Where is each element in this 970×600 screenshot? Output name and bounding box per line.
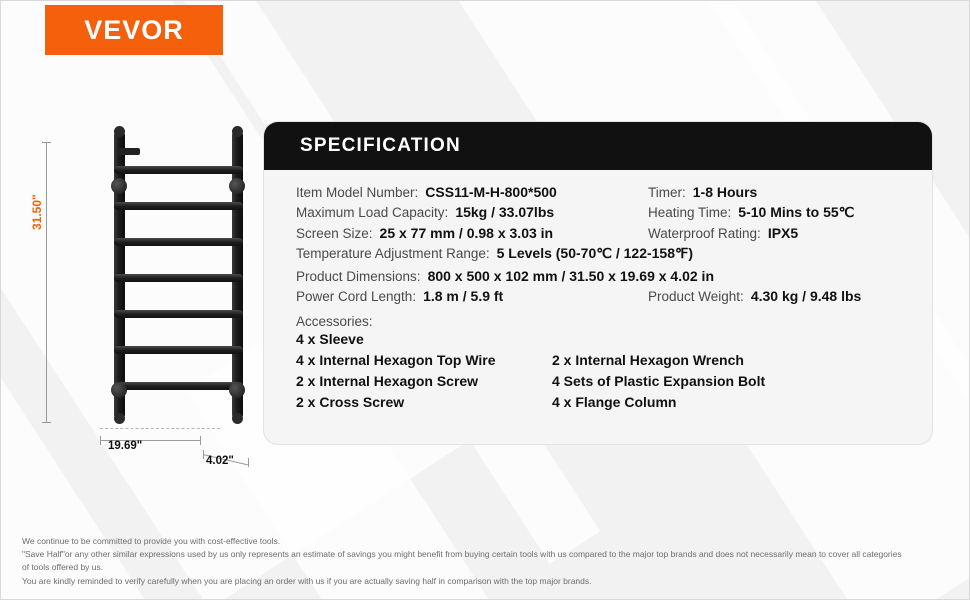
accessory-item: 2 x Internal Hexagon Screw <box>296 373 552 389</box>
spec-row: Product Dimensions: 800 x 500 x 102 mm /… <box>296 268 910 284</box>
timer-value: 1-8 Hours <box>693 184 758 200</box>
screen-size-value: 25 x 77 mm / 0.98 x 3.03 in <box>380 225 554 241</box>
rail-bar <box>114 310 243 318</box>
footer-line-4: You are kindly reminded to verify carefu… <box>22 575 952 587</box>
waterproof-rating-value: IPX5 <box>768 225 798 241</box>
accessory-item: 2 x Cross Screw <box>296 394 552 410</box>
post-cap <box>114 126 125 137</box>
power-cord-length-value: 1.8 m / 5.9 ft <box>423 288 503 304</box>
depth-dimension-tick <box>248 458 249 467</box>
height-dimension-tick <box>42 422 51 423</box>
rail-bar <box>114 202 243 210</box>
temperature-range-label: Temperature Adjustment Range: <box>296 246 490 261</box>
specification-title: SPECIFICATION <box>300 135 461 157</box>
towel-rail-graphic <box>100 130 258 420</box>
wall-mount <box>229 178 245 194</box>
accessories-column-1: 4 x Internal Hexagon Top Wire 2 x Intern… <box>296 352 552 415</box>
width-dimension-tick <box>100 436 101 445</box>
display-screen <box>118 148 140 155</box>
heating-time-value: 5-10 Mins to 55℃ <box>738 204 854 221</box>
height-dimension-label: 31.50" <box>30 194 44 230</box>
temperature-range-value: 5 Levels (50-70℃ / 122-158℉) <box>497 245 693 262</box>
timer-label: Timer: <box>648 185 686 200</box>
specification-card: SPECIFICATION Item Model Number: CSS11-M… <box>264 122 932 444</box>
accessories-grid: 4 x Internal Hexagon Top Wire 2 x Intern… <box>296 352 910 415</box>
accessory-item: 4 Sets of Plastic Expansion Bolt <box>552 373 765 389</box>
accessory-item: 2 x Internal Hexagon Wrench <box>552 352 765 368</box>
model-number-label: Item Model Number: <box>296 185 418 200</box>
height-dimension-tick <box>42 142 51 143</box>
spec-row: Temperature Adjustment Range: 5 Levels (… <box>296 245 910 262</box>
post-cap <box>232 413 243 424</box>
vevor-logo: VEVOR <box>45 5 223 55</box>
max-load-value: 15kg / 33.07lbs <box>455 204 554 220</box>
wall-mount <box>111 382 127 398</box>
specification-header: SPECIFICATION <box>264 122 932 170</box>
accessories-label: Accessories: <box>296 314 910 329</box>
accessory-item: 4 x Internal Hexagon Top Wire <box>296 352 552 368</box>
accessory-item: 4 x Sleeve <box>296 331 910 347</box>
model-number-value: CSS11-M-H-800*500 <box>425 184 557 200</box>
width-dimension-tick <box>200 436 201 445</box>
rail-bar <box>114 274 243 282</box>
spec-row: Screen Size: 25 x 77 mm / 0.98 x 3.03 in… <box>296 225 910 245</box>
footer-line-3: of tools offered by us. <box>22 561 952 573</box>
spec-row: Maximum Load Capacity: 15kg / 33.07lbs H… <box>296 204 910 225</box>
post-cap <box>232 126 243 137</box>
screen-size-label: Screen Size: <box>296 226 373 241</box>
wall-mount <box>111 178 127 194</box>
rail-bar <box>114 382 243 390</box>
accessories-column-2: 2 x Internal Hexagon Wrench 4 Sets of Pl… <box>552 352 765 415</box>
vevor-logo-text: VEVOR <box>84 15 184 46</box>
height-dimension-line <box>46 142 47 422</box>
product-dimensions-label: Product Dimensions: <box>296 269 421 284</box>
max-load-label: Maximum Load Capacity: <box>296 205 448 220</box>
rail-bar <box>114 238 243 246</box>
power-cord-length-label: Power Cord Length: <box>296 289 416 304</box>
rail-bar <box>114 166 243 174</box>
footer-disclaimer: We continue to be committed to provide y… <box>22 535 952 588</box>
footer-line-2: "Save Half"or any other similar expressi… <box>22 548 952 560</box>
rail-bar <box>114 346 243 354</box>
depth-dimension-label: 4.02" <box>206 455 234 467</box>
heating-time-label: Heating Time: <box>648 205 731 220</box>
depth-dimension-guide <box>100 428 220 429</box>
accessory-item: 4 x Flange Column <box>552 394 765 410</box>
wall-mount <box>229 382 245 398</box>
product-image <box>40 120 260 470</box>
depth-dimension-tick <box>203 450 204 459</box>
product-dimensions-value: 800 x 500 x 102 mm / 31.50 x 19.69 x 4.0… <box>428 268 714 284</box>
product-weight-value: 4.30 kg / 9.48 lbs <box>751 288 862 304</box>
spec-row: Item Model Number: CSS11-M-H-800*500 Tim… <box>296 184 910 204</box>
waterproof-rating-label: Waterproof Rating: <box>648 226 761 241</box>
spec-row: Power Cord Length: 1.8 m / 5.9 ft Produc… <box>296 288 910 308</box>
width-dimension-label: 19.69" <box>108 440 142 452</box>
post-cap <box>114 413 125 424</box>
footer-line-1: We continue to be committed to provide y… <box>22 535 952 547</box>
product-weight-label: Product Weight: <box>648 289 744 304</box>
specification-body: Item Model Number: CSS11-M-H-800*500 Tim… <box>264 170 932 444</box>
